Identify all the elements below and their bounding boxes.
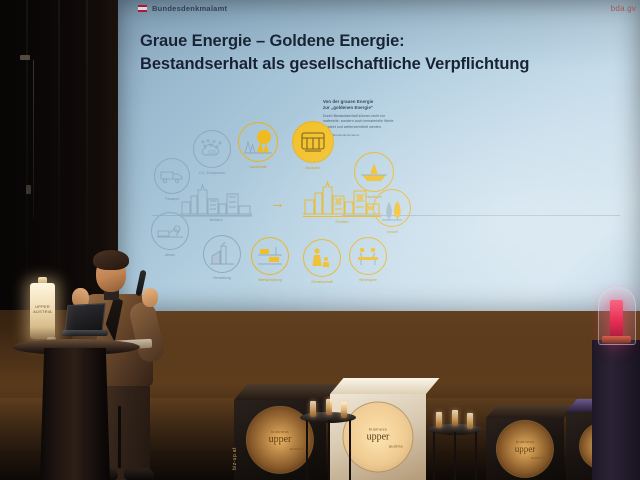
drink-glass [467, 413, 473, 429]
landscape-icon: Landschaft [238, 122, 278, 162]
stage-cable [33, 60, 34, 220]
projection-screen: Bundesdenkmalamt bda.gv Graue Energie – … [118, 0, 640, 311]
side-table-leg [306, 420, 308, 480]
speaker-hair [93, 250, 129, 270]
icon-label: Weitergabe [338, 278, 398, 282]
slide-watermark: bda.gv [611, 4, 636, 13]
icon-label: Landschaft [228, 165, 288, 169]
bar-table-skirt [40, 348, 110, 480]
city-before-illustration: Bestand [180, 182, 252, 223]
side-table-leg [349, 420, 351, 480]
curtain-clamp-icon [20, 55, 30, 60]
icon-label: Wertschöpfung [240, 278, 300, 282]
organization-label: Bundesdenkmalamt [152, 4, 227, 13]
branded-cube: business upper austria [486, 418, 564, 480]
note-heading-line2: zur „goldenen Energie“ [323, 105, 403, 111]
community-icon: Gemeinschaft [303, 239, 341, 277]
market-icon: Wertschöpfung [251, 237, 289, 275]
city-after-label: Erhalten [312, 220, 372, 224]
cube-url: biz-up.at [232, 447, 238, 470]
slide-title-line1: Graue Energie – Goldene Energie: [140, 30, 580, 53]
presentation-photo-scene: Bundesdenkmalamt bda.gv Graue Energie – … [0, 0, 640, 480]
icon-label: Umwelt [362, 230, 422, 234]
logo-bottom: austria [531, 455, 545, 460]
logo-bottom: austria [389, 443, 403, 448]
illuminated-award: UPPER AUSTRIA [30, 283, 55, 339]
cube-top-face [234, 384, 339, 400]
slide-note-block: Von der grauen Energie zur „goldenen Ene… [323, 99, 403, 137]
icon-label: CO₂-Emissionen [182, 171, 242, 175]
side-table-leg [328, 420, 330, 480]
icon-label: Baukultur [283, 166, 343, 170]
drink-glass [341, 402, 347, 418]
logo-top: business [516, 439, 534, 444]
award-label-line2: AUSTRIA [30, 309, 55, 314]
slide-title-line2: Bestandserhalt als gesellschaftliche Ver… [140, 53, 580, 76]
glass-dome [598, 287, 636, 345]
drink-glass [310, 401, 316, 417]
leg-seam [118, 406, 121, 468]
drink-glass [436, 412, 442, 428]
transition-arrow-icon: → [270, 196, 285, 211]
logo-mid: upper [515, 445, 536, 454]
award-label: UPPER AUSTRIA [30, 304, 55, 314]
slide-title: Graue Energie – Goldene Energie: Bestand… [140, 30, 580, 77]
city-after-illustration: Erhalten [303, 180, 381, 225]
co2-cloud-icon: CO₂ CO₂-Emissionen [193, 130, 231, 168]
speaker-shoe [124, 468, 154, 480]
side-table-leg [433, 432, 435, 480]
austria-flag-icon [138, 5, 147, 12]
logo-top: business [369, 426, 387, 431]
cube-top-face [486, 405, 575, 418]
display-pedestal [592, 340, 640, 480]
drink-glass [326, 399, 332, 415]
logo-mid: upper [367, 432, 390, 442]
workshop-icon: Weitergabe [349, 237, 387, 275]
slide-header: Bundesdenkmalamt [138, 4, 227, 13]
logo-mid: upper [269, 435, 292, 445]
city-before-label: Bestand [186, 218, 246, 222]
drinks-side-table [428, 424, 482, 480]
side-table-leg [454, 432, 456, 480]
drinks-side-table [300, 412, 356, 480]
speaker-right-hand [142, 288, 158, 307]
curtain-clamp-icon [26, 185, 31, 194]
factory-icon: Herstellung [203, 235, 241, 273]
note-credit: Grafik: Bundesdenkmalamt [323, 133, 403, 137]
cube-top-face [330, 378, 439, 394]
laptop-base [61, 330, 109, 336]
tram-window-icon: Baukultur [292, 121, 334, 163]
note-body: Durch Bestandserhalt können nicht nur ma… [323, 114, 403, 130]
cube-logo: business upper austria [496, 420, 554, 478]
drink-glass [452, 410, 458, 426]
side-table-leg [475, 432, 477, 480]
svg-text:CO₂: CO₂ [208, 150, 218, 156]
